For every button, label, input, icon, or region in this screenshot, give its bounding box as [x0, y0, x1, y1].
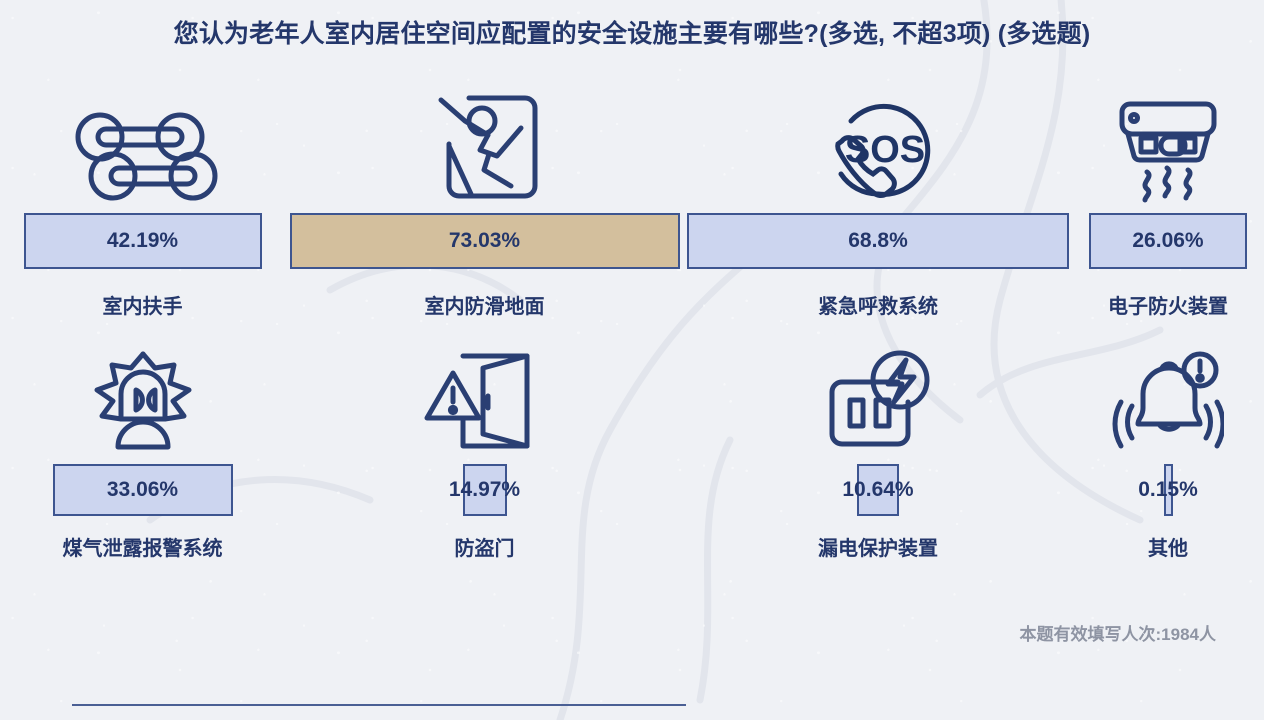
bar-other[interactable]: 0.15%	[1164, 464, 1173, 516]
chart-row-2: 33.06% 煤气泄露报警系统	[0, 340, 1264, 561]
alarm-beacon-icon	[85, 346, 201, 458]
bar-value-label: 14.97%	[449, 478, 520, 502]
security-door-icon-box	[423, 340, 547, 458]
alarm-beacon-icon-box	[85, 340, 201, 458]
bar-value-label: 26.06%	[1132, 229, 1203, 253]
bar-value-label: 10.64%	[842, 478, 913, 502]
category-label-leakage-protection: 漏电保护装置	[818, 532, 938, 561]
power-outlet-icon-box	[820, 340, 936, 458]
bar-lane: 33.06%	[0, 458, 285, 522]
category-label-other: 其他	[1148, 532, 1188, 561]
sos-text: SOS	[845, 129, 925, 171]
bar-lane: 68.8%	[684, 206, 1072, 276]
category-label-gas-alarm: 煤气泄露报警系统	[63, 532, 223, 561]
bar-handrail[interactable]: 42.19%	[24, 213, 262, 269]
bar-value-label: 33.06%	[107, 478, 178, 502]
chart-item-fire-device[interactable]: 26.06% 电子防火装置	[1072, 88, 1264, 319]
security-door-icon	[423, 346, 547, 458]
bar-gas-alarm[interactable]: 33.06%	[53, 464, 233, 516]
category-label-security-door: 防盗门	[455, 532, 515, 561]
bar-emergency-call[interactable]: 68.8%	[687, 213, 1069, 269]
chart-item-handrail[interactable]: 42.19% 室内扶手	[0, 88, 285, 319]
chart-item-security-door[interactable]: 14.97% 防盗门	[285, 340, 684, 561]
chart-item-leakage-protection[interactable]: 10.64% 漏电保护装置	[684, 340, 1072, 561]
smoke-detector-icon-box	[1110, 88, 1226, 206]
bar-value-label: 0.15%	[1138, 478, 1198, 502]
bar-lane: 26.06%	[1072, 206, 1264, 276]
bar-antislip-floor[interactable]: 73.03%	[290, 213, 680, 269]
chart-item-gas-alarm[interactable]: 33.06% 煤气泄露报警系统	[0, 340, 285, 561]
footer-divider	[72, 704, 686, 706]
slip-fall-icon	[425, 88, 545, 206]
bar-value-label: 68.8%	[848, 229, 908, 253]
bar-lane: 10.64%	[684, 458, 1072, 522]
ringing-bell-icon	[1112, 346, 1224, 458]
chart-item-other[interactable]: 0.15% 其他	[1072, 340, 1264, 561]
power-outlet-icon	[820, 346, 936, 458]
sos-call-icon: SOS	[818, 94, 938, 206]
page-title: 您认为老年人室内居住空间应配置的安全设施主要有哪些?(多选, 不超3项) (多选…	[0, 14, 1264, 50]
bar-leakage-protection[interactable]: 10.64%	[857, 464, 899, 516]
bar-security-door[interactable]: 14.97%	[463, 464, 507, 516]
chart-item-antislip-floor[interactable]: 73.03% 室内防滑地面	[285, 88, 684, 319]
bar-lane: 73.03%	[285, 206, 684, 276]
category-label-handrail: 室内扶手	[103, 290, 183, 319]
sample-size-note: 本题有效填写人次:1984人	[1020, 620, 1216, 645]
chart-row-1: 42.19% 室内扶手	[0, 88, 1264, 319]
category-label-fire-device: 电子防火装置	[1108, 290, 1228, 319]
bar-lane: 42.19%	[0, 206, 285, 276]
category-label-antislip-floor: 室内防滑地面	[425, 290, 545, 319]
ringing-bell-icon-box	[1112, 340, 1224, 458]
chart-item-emergency-call[interactable]: SOS 68.8% 紧急呼救系统	[684, 88, 1072, 319]
bar-lane: 0.15%	[1072, 458, 1264, 522]
bar-value-label: 73.03%	[449, 229, 520, 253]
sos-call-icon-box: SOS	[818, 88, 938, 206]
handrail-icon	[68, 106, 218, 206]
smoke-detector-icon	[1110, 94, 1226, 206]
bar-lane: 14.97%	[285, 458, 684, 522]
bar-fire-device[interactable]: 26.06%	[1089, 213, 1247, 269]
slip-fall-icon-box	[425, 88, 545, 206]
bar-value-label: 42.19%	[107, 229, 178, 253]
category-label-emergency-call: 紧急呼救系统	[818, 290, 938, 319]
handrail-icon-box	[68, 88, 218, 206]
